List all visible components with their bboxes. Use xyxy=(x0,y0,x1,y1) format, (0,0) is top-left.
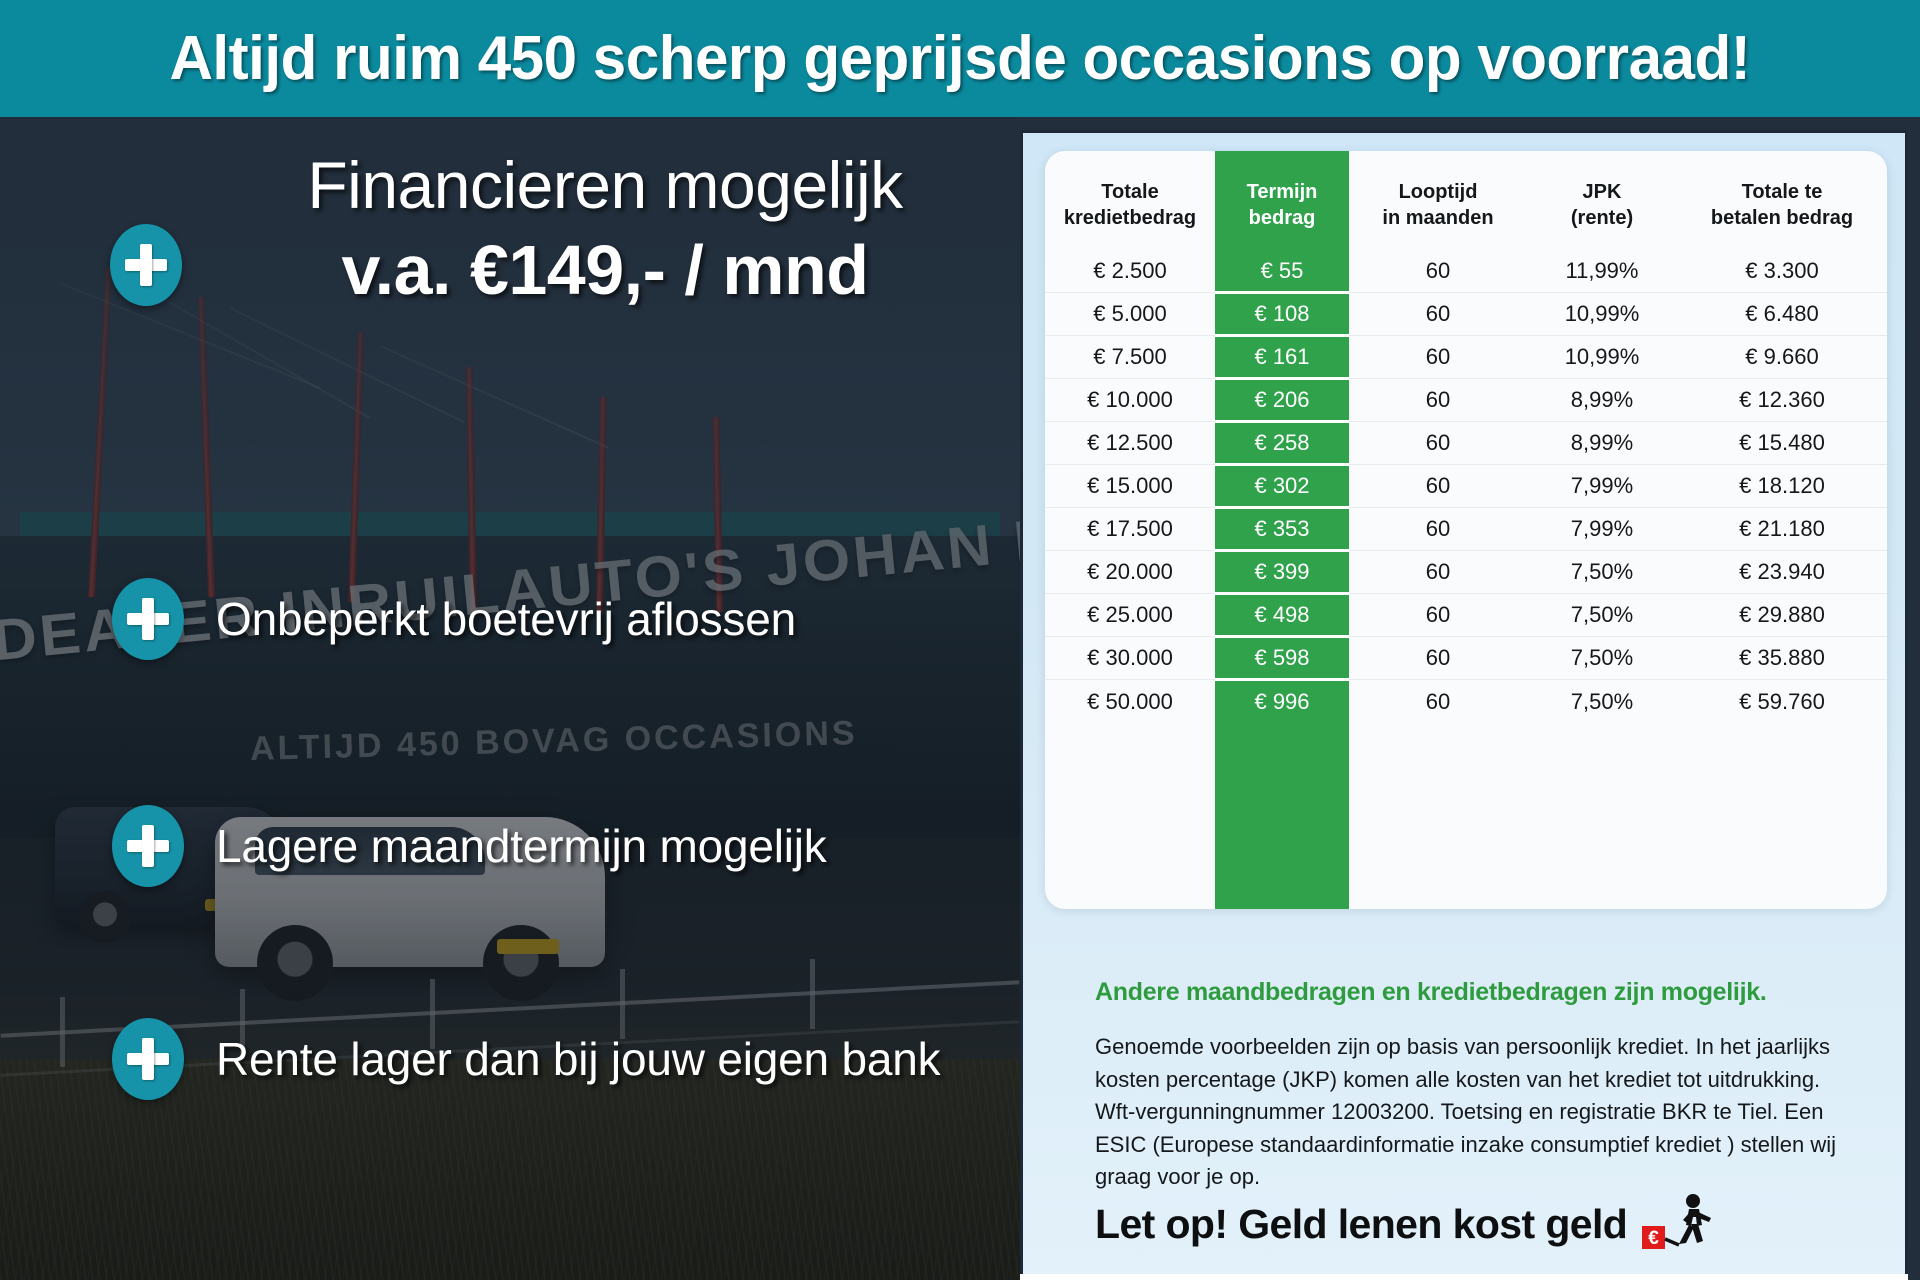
notes-body: Genoemde voorbeelden zijn op basis van p… xyxy=(1095,1031,1855,1194)
warning-text: Let op! Geld lenen kost geld xyxy=(1095,1201,1627,1248)
cell-termijnbedrag: € 598 xyxy=(1215,637,1349,680)
cell-totaalbedrag: € 29.880 xyxy=(1677,594,1887,637)
cell-totaalbedrag: € 9.660 xyxy=(1677,336,1887,379)
cell-jkp: 8,99% xyxy=(1527,379,1677,422)
financing-table-card: Totale kredietbedrag Termijn bedrag Loop… xyxy=(1045,151,1887,909)
cell-jkp: 7,50% xyxy=(1527,551,1677,594)
cell-looptijd: 60 xyxy=(1349,594,1527,637)
cell-looptijd: 60 xyxy=(1349,551,1527,594)
table-row: € 7.500€ 1616010,99%€ 9.660 xyxy=(1045,336,1887,379)
cell-totaalbedrag: € 3.300 xyxy=(1677,250,1887,293)
top-banner: Altijd ruim 450 scherp geprijsde occasio… xyxy=(0,0,1920,117)
benefit-label: Onbeperkt boetevrij aflossen xyxy=(216,592,796,646)
cell-kredietbedrag: € 7.500 xyxy=(1045,336,1215,379)
table-row: € 17.500€ 353607,99%€ 21.180 xyxy=(1045,508,1887,551)
cell-termijnbedrag: € 108 xyxy=(1215,293,1349,336)
header-line1: Totale xyxy=(1101,181,1158,203)
table-row: € 10.000€ 206608,99%€ 12.360 xyxy=(1045,379,1887,422)
header-line2: (rente) xyxy=(1571,207,1633,229)
table-row: € 2.500€ 556011,99%€ 3.300 xyxy=(1045,250,1887,293)
panel-bottom-edge xyxy=(1020,1274,1908,1280)
hero-headline-line2: v.a. €149,- / mnd xyxy=(210,231,1000,309)
cell-jkp: 11,99% xyxy=(1527,250,1677,293)
afm-person-head xyxy=(1686,1194,1700,1208)
plus-icon xyxy=(112,805,184,887)
header-line2: kredietbedrag xyxy=(1064,207,1196,229)
cell-totaalbedrag: € 21.180 xyxy=(1677,508,1887,551)
cell-jkp: 7,99% xyxy=(1527,508,1677,551)
cell-jkp: 10,99% xyxy=(1527,336,1677,379)
cell-kredietbedrag: € 12.500 xyxy=(1045,422,1215,465)
benefit-label: Rente lager dan bij jouw eigen bank xyxy=(216,1032,940,1086)
cell-looptijd: 60 xyxy=(1349,508,1527,551)
cell-looptijd: 60 xyxy=(1349,422,1527,465)
benefit-item-1: Onbeperkt boetevrij aflossen xyxy=(112,578,796,660)
cell-jkp: 7,50% xyxy=(1527,594,1677,637)
cell-looptijd: 60 xyxy=(1349,293,1527,336)
column-header-looptijd: Looptijd in maanden xyxy=(1349,151,1527,250)
hero-headline-line1: Financieren mogelijk xyxy=(210,150,1000,221)
afm-chain xyxy=(1665,1239,1679,1245)
column-header-kredietbedrag: Totale kredietbedrag xyxy=(1045,151,1215,250)
table-row: € 30.000€ 598607,50%€ 35.880 xyxy=(1045,637,1887,680)
cell-kredietbedrag: € 17.500 xyxy=(1045,508,1215,551)
cell-totaalbedrag: € 35.880 xyxy=(1677,637,1887,680)
plus-icon xyxy=(112,1018,184,1100)
header-line2: in maanden xyxy=(1382,207,1493,229)
financing-panel: Totale kredietbedrag Termijn bedrag Loop… xyxy=(1020,130,1908,1280)
cell-jkp: 10,99% xyxy=(1527,293,1677,336)
afm-euro-symbol: € xyxy=(1648,1228,1659,1249)
cell-kredietbedrag: € 2.500 xyxy=(1045,250,1215,293)
cell-kredietbedrag: € 20.000 xyxy=(1045,551,1215,594)
financing-table-head: Totale kredietbedrag Termijn bedrag Loop… xyxy=(1045,151,1887,250)
table-row: € 20.000€ 399607,50%€ 23.940 xyxy=(1045,551,1887,594)
cell-termijnbedrag: € 996 xyxy=(1215,680,1349,723)
cell-kredietbedrag: € 10.000 xyxy=(1045,379,1215,422)
cell-termijnbedrag: € 399 xyxy=(1215,551,1349,594)
header-line1: JPK xyxy=(1583,181,1622,203)
plus-icon xyxy=(112,578,184,660)
cell-kredietbedrag: € 25.000 xyxy=(1045,594,1215,637)
financing-table-body: € 2.500€ 556011,99%€ 3.300€ 5.000€ 10860… xyxy=(1045,250,1887,723)
notes-block: Andere maandbedragen en kredietbedragen … xyxy=(1095,978,1855,1194)
cell-termijnbedrag: € 302 xyxy=(1215,465,1349,508)
cell-looptijd: 60 xyxy=(1349,680,1527,723)
plus-icon-bar-vertical xyxy=(142,825,154,867)
cell-kredietbedrag: € 5.000 xyxy=(1045,293,1215,336)
header-line1: Totale te xyxy=(1742,181,1823,203)
cell-termijnbedrag: € 498 xyxy=(1215,594,1349,637)
cell-looptijd: 60 xyxy=(1349,637,1527,680)
warning-block: Let op! Geld lenen kost geld € xyxy=(1095,1193,1885,1255)
cell-totaalbedrag: € 23.940 xyxy=(1677,551,1887,594)
table-row: € 15.000€ 302607,99%€ 18.120 xyxy=(1045,465,1887,508)
cell-termijnbedrag: € 353 xyxy=(1215,508,1349,551)
cell-termijnbedrag: € 161 xyxy=(1215,336,1349,379)
advertisement-page: Altijd ruim 450 scherp geprijsde occasio… xyxy=(0,0,1920,1280)
cell-totaalbedrag: € 6.480 xyxy=(1677,293,1887,336)
afm-person-leg-back xyxy=(1679,1225,1694,1244)
column-header-totaal: Totale te betalen bedrag xyxy=(1677,151,1887,250)
cell-looptijd: 60 xyxy=(1349,336,1527,379)
table-row: € 5.000€ 1086010,99%€ 6.480 xyxy=(1045,293,1887,336)
cell-looptijd: 60 xyxy=(1349,379,1527,422)
cell-kredietbedrag: € 30.000 xyxy=(1045,637,1215,680)
notes-heading: Andere maandbedragen en kredietbedragen … xyxy=(1095,978,1855,1007)
column-header-termijnbedrag: Termijn bedrag xyxy=(1215,151,1349,250)
cell-jkp: 8,99% xyxy=(1527,422,1677,465)
financing-table: Totale kredietbedrag Termijn bedrag Loop… xyxy=(1045,151,1887,723)
plus-icon xyxy=(110,224,182,306)
plus-icon-bar-vertical xyxy=(140,244,152,286)
benefit-label: Lagere maandtermijn mogelijk xyxy=(216,819,827,873)
cell-totaalbedrag: € 59.760 xyxy=(1677,680,1887,723)
cell-looptijd: 60 xyxy=(1349,250,1527,293)
benefit-item-3: Rente lager dan bij jouw eigen bank xyxy=(112,1018,940,1100)
cell-termijnbedrag: € 55 xyxy=(1215,250,1349,293)
benefit-item-2: Lagere maandtermijn mogelijk xyxy=(112,805,827,887)
cell-jkp: 7,50% xyxy=(1527,637,1677,680)
cell-kredietbedrag: € 50.000 xyxy=(1045,680,1215,723)
afm-walking-person-euro-icon: € xyxy=(1641,1193,1715,1255)
cell-totaalbedrag: € 12.360 xyxy=(1677,379,1887,422)
plus-icon-bar-vertical xyxy=(142,1038,154,1080)
table-row: € 12.500€ 258608,99%€ 15.480 xyxy=(1045,422,1887,465)
column-header-jkp: JPK (rente) xyxy=(1527,151,1677,250)
cell-termijnbedrag: € 206 xyxy=(1215,379,1349,422)
cell-totaalbedrag: € 18.120 xyxy=(1677,465,1887,508)
hero-headline-block: Financieren mogelijk v.a. €149,- / mnd xyxy=(210,150,1000,310)
table-header-row: Totale kredietbedrag Termijn bedrag Loop… xyxy=(1045,151,1887,250)
table-row: € 25.000€ 498607,50%€ 29.880 xyxy=(1045,594,1887,637)
plus-icon-bar-vertical xyxy=(142,598,154,640)
cell-termijnbedrag: € 258 xyxy=(1215,422,1349,465)
cell-jkp: 7,99% xyxy=(1527,465,1677,508)
table-row: € 50.000€ 996607,50%€ 59.760 xyxy=(1045,680,1887,723)
header-line2: bedrag xyxy=(1249,207,1316,229)
header-line2: betalen bedrag xyxy=(1711,207,1853,229)
cell-looptijd: 60 xyxy=(1349,465,1527,508)
header-line1: Looptijd xyxy=(1399,181,1478,203)
banner-headline: Altijd ruim 450 scherp geprijsde occasio… xyxy=(170,28,1751,90)
header-line1: Termijn xyxy=(1247,181,1318,203)
cell-totaalbedrag: € 15.480 xyxy=(1677,422,1887,465)
cell-jkp: 7,50% xyxy=(1527,680,1677,723)
cell-kredietbedrag: € 15.000 xyxy=(1045,465,1215,508)
